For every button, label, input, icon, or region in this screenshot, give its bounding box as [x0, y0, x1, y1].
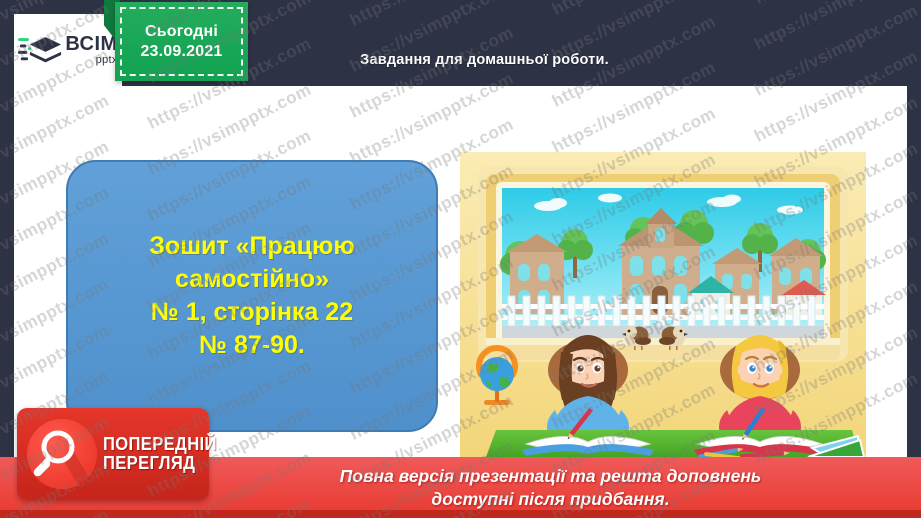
logo-subtitle: pptx	[65, 55, 117, 66]
preview-line-1: ПОПЕРЕДНІЙ	[103, 434, 217, 454]
today-date: 23.09.2021	[140, 42, 222, 62]
logo-name: ВСІМ	[65, 34, 117, 54]
graduation-cap-icon	[18, 31, 62, 69]
page-title: Завдання для домашньої роботи.	[360, 52, 609, 68]
task-line-3: № 1, сторінка 22	[151, 296, 353, 329]
illustration-two-children-studying	[460, 152, 866, 457]
presentation-slide: Завдання для домашньої роботи. ВСІМ pptx…	[0, 0, 921, 518]
banner-line-2: доступні після придбання.	[431, 489, 669, 509]
task-line-4: № 87-90.	[199, 329, 305, 362]
banner-line-1: Повна версія презентації та решта доповн…	[340, 466, 762, 486]
preview-line-2: ПЕРЕГЛЯД	[103, 453, 195, 473]
preview-badge-text: ПОПЕРЕДНІЙ ПЕРЕГЛЯД	[103, 435, 217, 474]
task-box: Зошит «Працюю самостійно» № 1, сторінка …	[66, 160, 438, 432]
header-title-container: Завдання для домашньої роботи.	[152, 36, 817, 84]
magnifier-icon	[27, 419, 97, 489]
date-badge: Сьогодні 23.09.2021	[115, 2, 248, 81]
task-line-1: Зошит «Працюю	[149, 230, 354, 263]
preview-badge: ПОПЕРЕДНІЙ ПЕРЕГЛЯД	[17, 408, 209, 500]
today-label: Сьогодні	[145, 22, 218, 42]
task-line-2: самостійно»	[175, 263, 329, 296]
